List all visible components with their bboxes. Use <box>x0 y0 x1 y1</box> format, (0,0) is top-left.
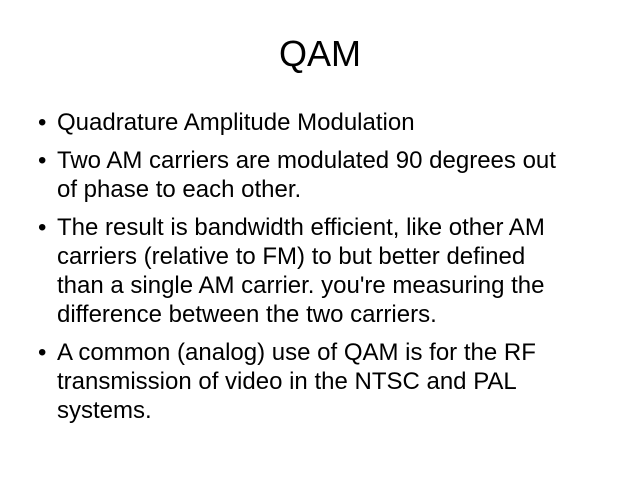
bullet-point-icon: • <box>38 146 46 175</box>
text-line: systems. <box>57 396 612 425</box>
list-item-text: The result is bandwidth efficient, like … <box>57 213 612 329</box>
bullet-point-icon: • <box>38 108 46 137</box>
slide-canvas: QAM • Quadrature Amplitude Modulation • … <box>0 0 640 480</box>
text-line: A common (analog) use of QAM is for the … <box>57 338 612 367</box>
list-item: • Quadrature Amplitude Modulation <box>32 108 612 137</box>
bullet-list: • Quadrature Amplitude Modulation • Two … <box>32 108 612 425</box>
list-item: • A common (analog) use of QAM is for th… <box>32 338 612 425</box>
bullet-point-icon: • <box>38 338 46 367</box>
text-line: of phase to each other. <box>57 175 612 204</box>
list-item-text: Quadrature Amplitude Modulation <box>57 108 612 137</box>
list-item-text: A common (analog) use of QAM is for the … <box>57 338 612 425</box>
text-line: The result is bandwidth efficient, like … <box>57 213 612 242</box>
list-item-text: Two AM carriers are modulated 90 degrees… <box>57 146 612 204</box>
text-line: carriers (relative to FM) to but better … <box>57 242 612 271</box>
text-line: than a single AM carrier. you're measuri… <box>57 271 612 300</box>
list-item: • Two AM carriers are modulated 90 degre… <box>32 146 612 204</box>
text-line: Quadrature Amplitude Modulation <box>57 108 612 137</box>
text-line: Two AM carriers are modulated 90 degrees… <box>57 146 612 175</box>
list-item: • The result is bandwidth efficient, lik… <box>32 213 612 329</box>
text-line: transmission of video in the NTSC and PA… <box>57 367 612 396</box>
text-line: difference between the two carriers. <box>57 300 612 329</box>
bullet-point-icon: • <box>38 213 46 242</box>
page-title: QAM <box>0 33 640 75</box>
